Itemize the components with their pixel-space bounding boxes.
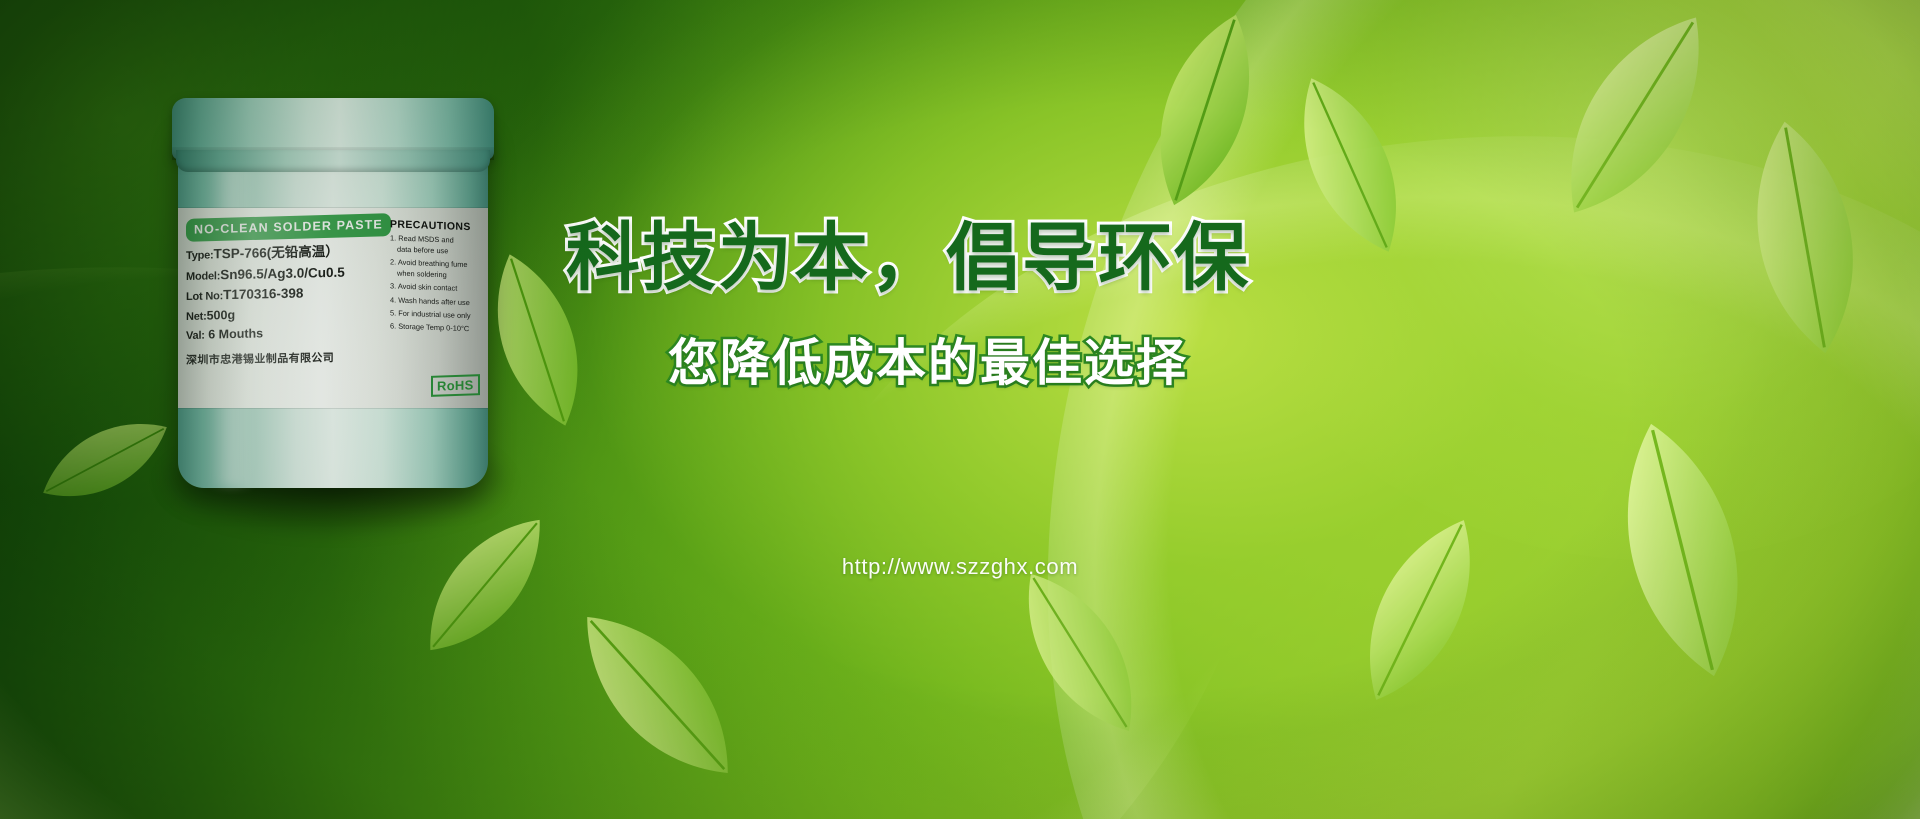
label-precautions-column: PRECAUTIONS 1. Read MSDS anddata before … [390,220,484,333]
product-label: NO-CLEAN SOLDER PASTE Type:TSP-766(无铅高温）… [178,208,488,408]
leaf-icon [1318,492,1523,729]
jar-lid-rim [176,150,490,172]
precaution-item: 2. Avoid breathing fumewhen soldering [390,257,484,283]
leaf-icon [1571,404,1794,696]
precaution-item: 6. Storage Temp 0-10°C [390,320,484,334]
precaution-text: For industrial use only [398,308,470,320]
light-ribbon-5 [839,0,1920,819]
leaf-icon [1510,0,1759,252]
banner-subheadline: 您降低成本的最佳选择 [668,332,1288,394]
spec-value: 6 Mouths [205,326,263,341]
rohs-badge: RoHS [431,374,480,397]
manufacturer-name: 深圳市忠港锡业制品有限公司 [186,348,382,367]
spec-key: Lot No: [186,290,223,303]
precaution-text: Wash hands after use [398,295,470,307]
spec-key: Type: [186,249,214,262]
spec-value: 500g [207,308,236,323]
product-jar: NO-CLEAN SOLDER PASTE Type:TSP-766(无铅高温）… [150,78,520,508]
precaution-text-cont: data before use [390,243,484,257]
spec-row-val: Val: 6 Mouths [186,321,382,344]
spec-key: Net: [186,310,207,322]
precaution-number: 5. [390,308,396,317]
precaution-item: 3. Avoid skin contact [390,281,484,295]
precaution-text: Storage Temp 0-10°C [398,321,469,332]
precaution-number: 4. [390,295,396,304]
leaf-icon [537,572,778,818]
spec-value: TSP-766(无铅高温） [214,244,339,262]
precaution-text: Read MSDS and [398,234,453,245]
leaf-icon [1112,0,1297,225]
light-ribbon-3 [706,58,1920,819]
spec-value: T170316-398 [223,286,303,303]
product-spec-list: Type:TSP-766(无铅高温） Model:Sn96.5/Ag3.0/Cu… [186,245,382,345]
product-type-banner: NO-CLEAN SOLDER PASTE [186,213,391,242]
website-url[interactable]: http://www.szzghx.com [0,554,1920,580]
precaution-number: 6. [390,321,396,330]
precaution-number: 3. [390,282,396,291]
precaution-text: Avoid skin contact [398,282,457,293]
promo-banner: NO-CLEAN SOLDER PASTE Type:TSP-766(无铅高温）… [0,0,1920,819]
precaution-number: 1. [390,233,396,242]
label-main-column: NO-CLEAN SOLDER PASTE Type:TSP-766(无铅高温）… [186,216,382,366]
leaf-icon [1711,109,1900,366]
banner-headline: 科技为本，倡导环保 [566,214,1356,302]
spec-key: Model: [186,270,220,283]
precaution-item: 4. Wash hands after use [390,294,484,308]
precaution-number: 2. [390,258,396,267]
precautions-title: PRECAUTIONS [390,218,484,233]
spec-key: Val: [186,329,205,341]
spec-value: Sn96.5/Ag3.0/Cu0.5 [220,264,345,282]
precaution-item: 5. For industrial use only [390,307,484,321]
precaution-item: 1. Read MSDS anddata before use [390,232,484,258]
